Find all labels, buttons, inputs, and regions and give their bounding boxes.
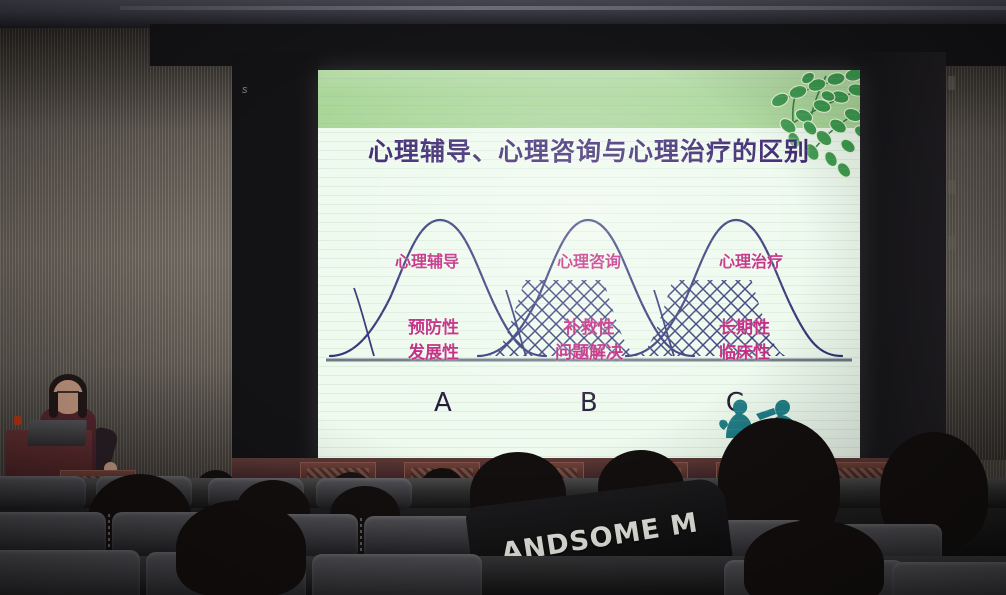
curve-label-counseling: 心理咨询 [557, 250, 621, 273]
audience-seat [892, 562, 1006, 595]
laptop [27, 420, 87, 446]
attribute-a-line1: 预防性 [408, 316, 459, 341]
presenter-glasses [57, 391, 79, 398]
attribute-column-c: 长期性 临床性 [719, 316, 770, 365]
presenter-hair-right [78, 392, 87, 418]
screen-right-panel [860, 52, 946, 466]
lecture-hall-photo: s [0, 0, 1006, 595]
attribute-b-line2: 问题解决 [555, 341, 623, 366]
audience-seat [0, 476, 86, 510]
curve-label-counseling-guidance: 心理辅导 [395, 250, 459, 273]
audience-seat [312, 554, 482, 595]
presentation-slide: 心理辅导、心理咨询与心理治疗的区别 [318, 70, 860, 466]
audience-seat [0, 550, 140, 595]
microphone-indicator-icon [14, 416, 21, 425]
axis-marker-b: B [580, 388, 598, 418]
right-wall-panel [946, 30, 1006, 460]
screen-bracket-upper [948, 76, 955, 90]
screen-bracket-lower [948, 236, 955, 250]
page-title: 心理辅导、心理咨询与心理治疗的区别 [318, 132, 860, 168]
audience-head-front [176, 500, 306, 595]
attribute-b-line1: 补救性 [555, 316, 623, 341]
ceiling-light-strip [120, 6, 1006, 10]
panel-mark-label: s [242, 84, 248, 96]
curve-label-row: 心理辅导 心理咨询 心理治疗 [318, 250, 860, 273]
attribute-a-line2: 发展性 [408, 341, 459, 366]
screen-left-panel [232, 52, 318, 466]
axis-marker-a: A [434, 388, 452, 418]
leaf-decoration-icon [676, 70, 860, 186]
curve-label-therapy: 心理治疗 [719, 250, 783, 273]
attribute-c-line1: 长期性 [719, 316, 770, 341]
attribute-column-a: 预防性 发展性 [408, 316, 459, 365]
attribute-column-b: 补救性 问题解决 [555, 316, 623, 365]
attribute-label-row: 预防性 发展性 补救性 问题解决 长期性 临床性 [318, 316, 860, 365]
screen-bracket-mid [948, 180, 955, 194]
attribute-c-line2: 临床性 [719, 341, 770, 366]
